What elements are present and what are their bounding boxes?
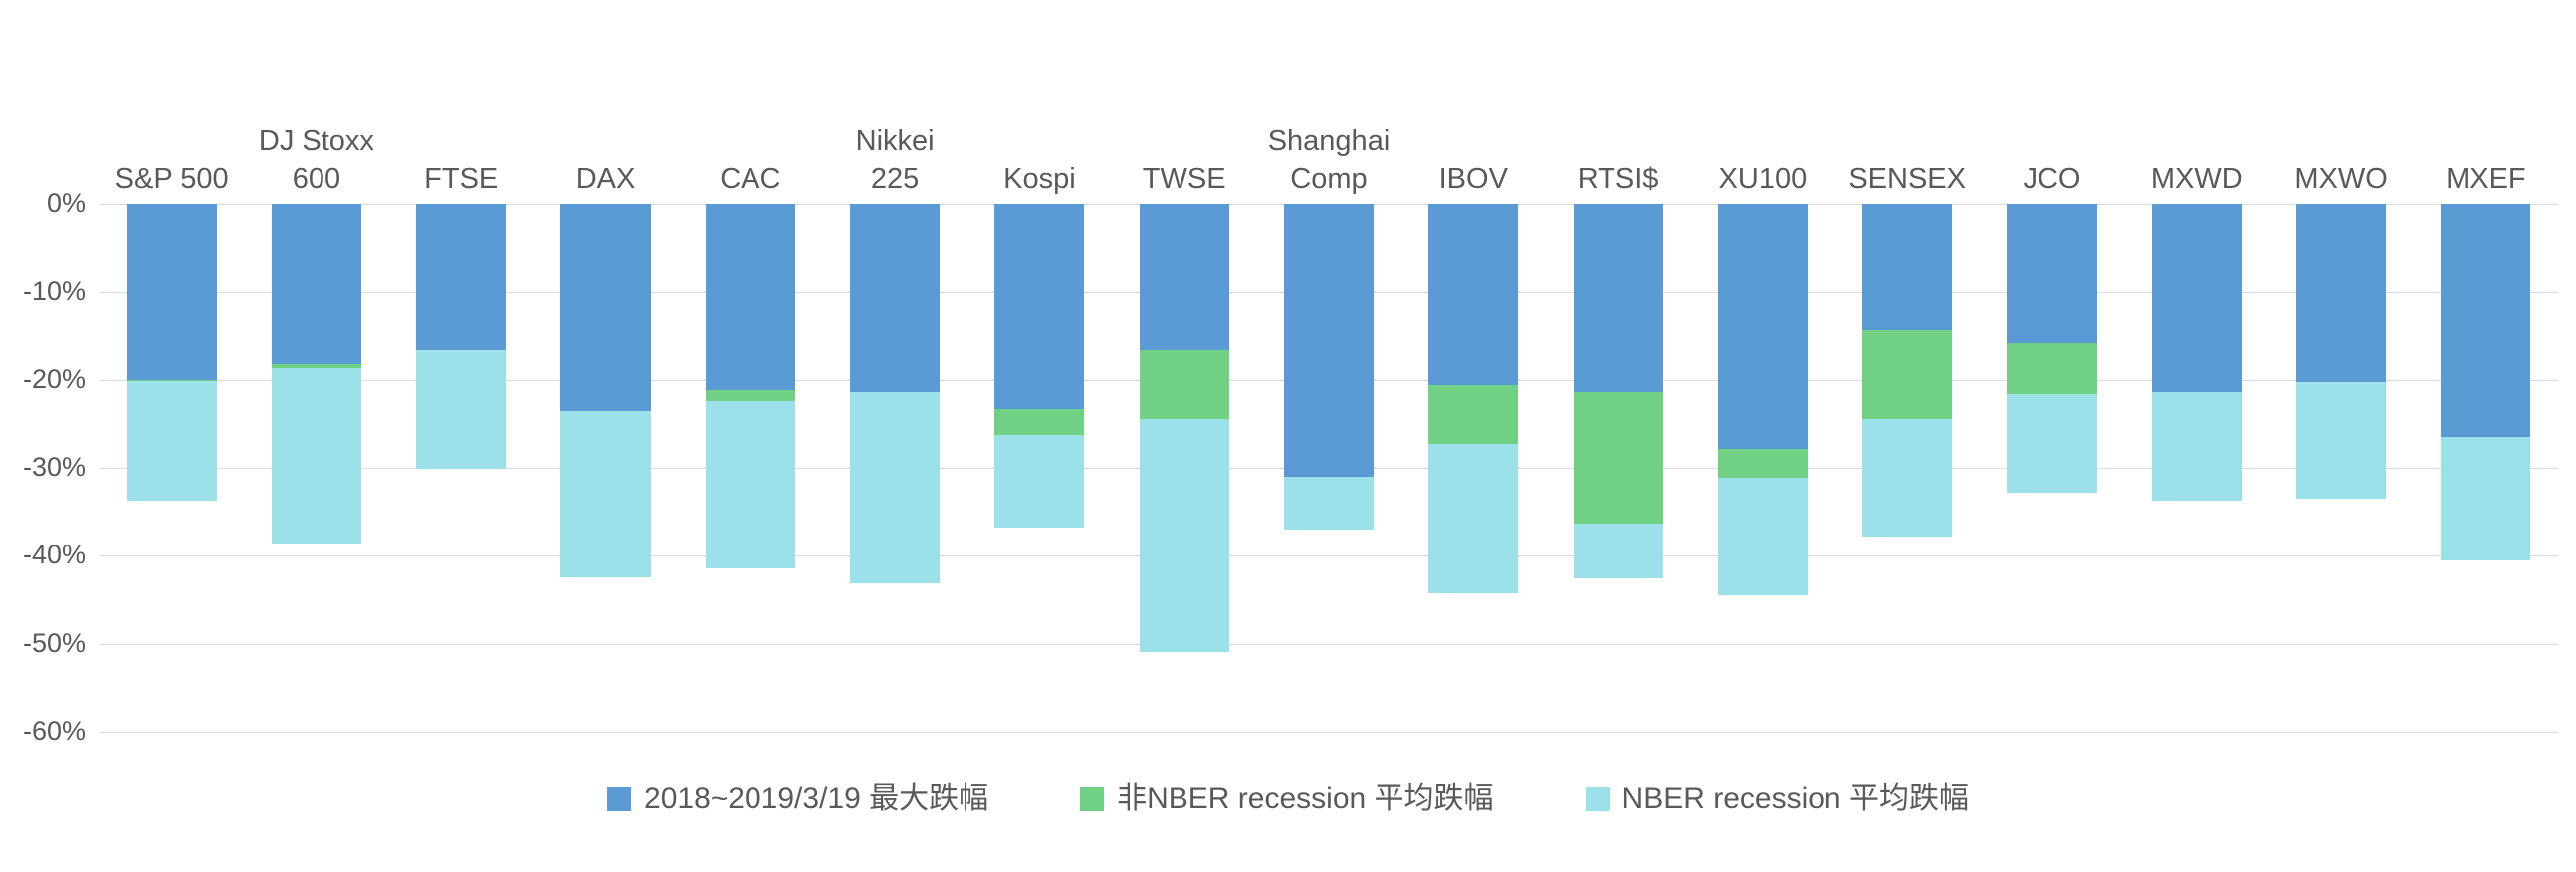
bar-group[interactable] xyxy=(560,204,650,732)
bar-group[interactable] xyxy=(1862,204,1952,732)
bar-segment[interactable] xyxy=(1862,330,1952,419)
bar-group[interactable] xyxy=(272,204,361,732)
legend-swatch-nber xyxy=(1586,787,1610,811)
bar-segment[interactable] xyxy=(1718,204,1808,449)
bar-group[interactable] xyxy=(2441,204,2530,732)
bar-segment[interactable] xyxy=(2152,392,2242,501)
bar-segment[interactable] xyxy=(1140,419,1229,652)
legend-item[interactable]: NBER recession 平均跌幅 xyxy=(1586,784,1969,814)
bar-segment[interactable] xyxy=(2007,204,2096,343)
bar-group[interactable] xyxy=(416,204,506,732)
bar-group[interactable] xyxy=(850,204,940,732)
bar-segment[interactable] xyxy=(1284,477,1374,530)
bar-segment[interactable] xyxy=(850,392,940,583)
bar-segment[interactable] xyxy=(994,204,1084,409)
bar-segment[interactable] xyxy=(2152,204,2242,392)
bar-segment[interactable] xyxy=(1428,444,1518,593)
y-axis-tick-label: -50% xyxy=(0,630,86,657)
bar-group[interactable] xyxy=(2007,204,2096,732)
bar-segment[interactable] xyxy=(1284,204,1374,477)
bar-segment[interactable] xyxy=(272,204,361,364)
bar-group[interactable] xyxy=(1574,204,1663,732)
y-axis-tick-label: -60% xyxy=(0,718,86,745)
bar-segment[interactable] xyxy=(1718,449,1808,478)
legend-item[interactable]: 非NBER recession 平均跌幅 xyxy=(1080,784,1493,814)
bar-group[interactable] xyxy=(706,204,795,732)
bar-segment[interactable] xyxy=(1862,419,1952,536)
bar-segment[interactable] xyxy=(560,411,650,578)
bar-segment[interactable] xyxy=(706,390,795,401)
bar-segment[interactable] xyxy=(416,350,506,469)
x-axis-category-labels: S&P 500DJ Stoxx600 FTSE DAX CACNikkei225… xyxy=(100,0,2558,204)
bar-segment[interactable] xyxy=(994,409,1084,435)
bar-group[interactable] xyxy=(1718,204,1808,732)
bar-segment[interactable] xyxy=(850,204,940,392)
bar-group[interactable] xyxy=(2296,204,2386,732)
y-axis-tick-label: -10% xyxy=(0,278,86,305)
bar-group[interactable] xyxy=(1284,204,1374,732)
bar-segment[interactable] xyxy=(2441,204,2530,437)
bar-segment[interactable] xyxy=(2296,382,2386,499)
bar-segment[interactable] xyxy=(1140,350,1229,420)
bar-group[interactable] xyxy=(994,204,1084,732)
bar-segment[interactable] xyxy=(706,401,795,568)
bar-segment[interactable] xyxy=(416,204,506,350)
legend-label: NBER recession 平均跌幅 xyxy=(1622,784,1969,814)
bar-segment[interactable] xyxy=(127,381,217,501)
bar-segment[interactable] xyxy=(1718,478,1808,594)
y-axis-tick-label: -20% xyxy=(0,366,86,393)
bar-segment[interactable] xyxy=(1428,385,1518,444)
bar-segment[interactable] xyxy=(1428,204,1518,385)
legend-label: 非NBER recession 平均跌幅 xyxy=(1117,784,1493,814)
bar-segment[interactable] xyxy=(2007,394,2096,493)
bar-group[interactable] xyxy=(1140,204,1229,732)
bar-segment[interactable] xyxy=(2007,343,2096,393)
bar-group[interactable] xyxy=(1428,204,1518,732)
bar-segment[interactable] xyxy=(2296,204,2386,382)
legend-label: 2018~2019/3/19 最大跌幅 xyxy=(644,784,988,814)
y-axis-tick-label: -40% xyxy=(0,542,86,568)
bar-segment[interactable] xyxy=(1574,204,1663,392)
bar-segment[interactable] xyxy=(1574,524,1663,579)
bar-segment[interactable] xyxy=(706,204,795,390)
bar-segment[interactable] xyxy=(2441,437,2530,560)
y-axis-tick-label: -30% xyxy=(0,454,86,481)
category-label-line-1 xyxy=(2396,122,2576,160)
bar-segment[interactable] xyxy=(1140,204,1229,350)
bar-segment[interactable] xyxy=(272,368,361,544)
legend-item[interactable]: 2018~2019/3/19 最大跌幅 xyxy=(607,784,988,814)
bar-segment[interactable] xyxy=(994,435,1084,528)
stacked-bar-chart: 0%-10%-20%-30%-40%-50%-60% S&P 500DJ Sto… xyxy=(0,0,2576,872)
bar-segment[interactable] xyxy=(560,204,650,411)
legend-swatch-max-drawdown xyxy=(607,787,631,811)
legend-swatch-non-nber xyxy=(1080,787,1104,811)
category-label-line-2: MXEF xyxy=(2396,160,2576,198)
bar-segment[interactable] xyxy=(127,204,217,380)
bar-segment[interactable] xyxy=(1862,204,1952,330)
bar-segment[interactable] xyxy=(1574,392,1663,524)
x-axis-category-label: MXEF xyxy=(2396,122,2576,198)
y-axis-tick-label: 0% xyxy=(0,190,86,217)
bar-series-area xyxy=(100,204,2558,732)
chart-legend: 2018~2019/3/19 最大跌幅非NBER recession 平均跌幅N… xyxy=(0,774,2576,824)
bar-group[interactable] xyxy=(127,204,217,732)
bar-group[interactable] xyxy=(2152,204,2242,732)
